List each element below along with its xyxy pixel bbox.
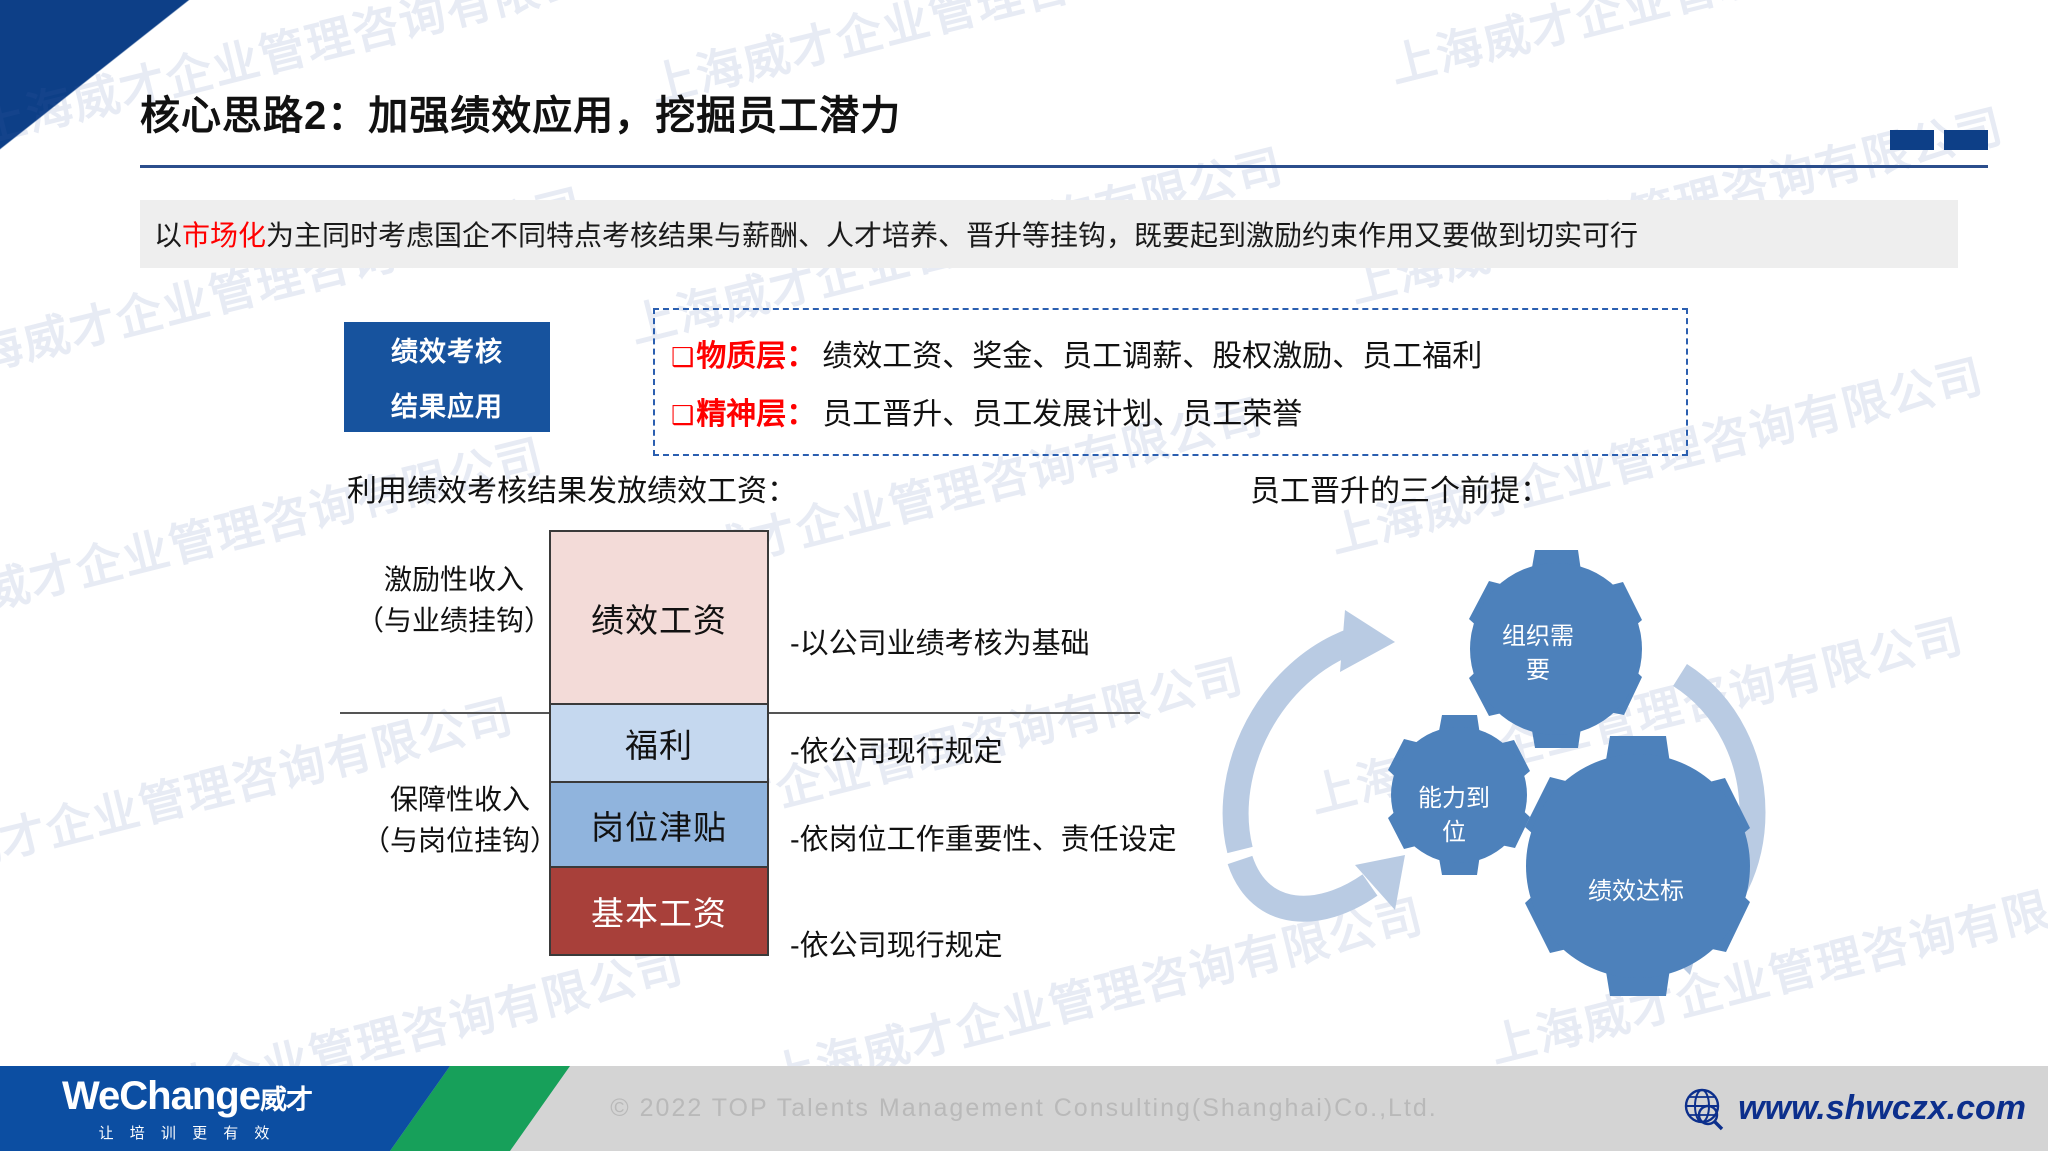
arrow-left-up [1236,640,1355,850]
subtitle-highlight: 市场化 [182,220,266,251]
mark-bar-1 [1890,130,1934,150]
arrow-head-up [1340,610,1395,672]
subtitle-band: 以市场化为主同时考虑国企不同特点考核结果与薪酬、人才培养、晋升等挂钩，既要起到激… [140,200,1958,268]
logo-tagline: 让 培 训 更 有 效 [62,1122,312,1143]
income-label-incentive-line1: 激励性收入 [356,560,552,601]
subtitle-text: 以市场化为主同时考虑国企不同特点考核结果与薪酬、人才培养、晋升等挂钩，既要起到激… [140,214,1638,254]
income-label-guarantee-line2: （与岗位挂钩） [362,821,558,862]
layer-text-spiritual: 员工晋升、员工发展计划、员工荣誉 [822,389,1302,433]
gear-label-org-line1: 组织需 [1502,620,1574,654]
stack-cell-base-salary: 基本工资 [549,868,769,956]
application-layers-box: ❑ 物质层： 绩效工资、奖金、员工调薪、股权激励、员工福利 ❑ 精神层： 员工晋… [653,308,1688,456]
gears-svg [1180,520,1820,1040]
stack-cell-performance-pay: 绩效工资 [549,530,769,705]
website-text: www.shwczx.com [1738,1089,2026,1128]
stack-cell-post-allowance: 岗位津贴 [549,783,769,868]
income-label-guarantee: 保障性收入 （与岗位挂钩） [362,780,558,861]
arrow-bottom-curve [1240,860,1370,909]
slide-root: 上海威才企业管理咨询有限公司 上海威才企业管理咨询有限公司 上海威才企业管理咨询… [0,0,2048,1151]
square-bullet-icon: ❑ [671,344,694,370]
gear-label-cap-line1: 能力到 [1418,782,1490,816]
left-section-heading: 利用绩效考核结果发放绩效工资： [347,466,797,510]
stack-desc-benefits: -依公司现行规定 [790,728,1003,770]
income-label-guarantee-line1: 保障性收入 [362,780,558,821]
stack-desc-post-allowance: -依岗位工作重要性、责任设定 [790,816,1177,858]
gear-label-capability: 能力到 位 [1418,782,1490,849]
income-label-incentive-line2: （与业绩挂钩） [356,601,552,642]
watermark-text: 上海威才企业管理咨询有限公司 [1382,0,2048,96]
income-label-incentive: 激励性收入 （与业绩挂钩） [356,560,552,641]
mark-bar-2 [1944,130,1988,150]
gear-label-cap-line2: 位 [1418,816,1490,850]
layer-text-material: 绩效工资、奖金、员工调薪、股权激励、员工福利 [822,331,1482,375]
blue-box-line-2: 结果应用 [391,385,503,424]
layer-item-spiritual: ❑ 精神层： 员工晋升、员工发展计划、员工荣誉 [671,389,1686,433]
website-link[interactable]: www.shwczx.com [1680,1085,2026,1131]
performance-result-label-box: 绩效考核 结果应用 [344,322,550,432]
layer-label-spiritual: 精神层： [696,389,816,433]
layer-label-material: 物质层： [696,331,816,375]
subtitle-prefix: 以 [154,220,182,251]
gear-label-perf-line1: 绩效达标 [1588,875,1684,909]
subtitle-rest: 为主同时考虑国企不同特点考核结果与薪酬、人才培养、晋升等挂钩，既要起到激励约束作… [266,220,1638,251]
layer-item-material: ❑ 物质层： 绩效工资、奖金、员工调薪、股权激励、员工福利 [671,331,1686,375]
promotion-gears-diagram: 组织需 要 能力到 位 绩效达标 [1180,520,1820,1040]
page-title-text: 核心思路2：加强绩效应用，挖掘员工潜力 [140,85,1988,147]
salary-structure-stack: 绩效工资 福利 岗位津贴 基本工资 [549,530,769,956]
globe-icon [1680,1085,1726,1131]
stack-desc-performance-pay: -以公司业绩考核为基础 [790,620,1090,662]
square-bullet-icon: ❑ [671,402,694,428]
gear-label-performance: 绩效达标 [1588,875,1684,909]
blue-box-line-1: 绩效考核 [391,330,503,369]
page-title: 核心思路2：加强绩效应用，挖掘员工潜力 [140,85,1988,147]
stack-desc-base-salary: -依公司现行规定 [790,922,1003,964]
top-right-marks [1890,130,1988,150]
stack-cell-benefits: 福利 [549,705,769,783]
gear-performance-standard [1525,736,1750,996]
footer-bar: WeChange威才 让 培 训 更 有 效 © 2022 TOP Talent… [0,1066,2048,1151]
right-section-heading: 员工晋升的三个前提： [1250,466,1550,510]
gear-label-org-line2: 要 [1502,654,1574,688]
title-underline [140,165,1988,168]
gear-label-organization-need: 组织需 要 [1502,620,1574,687]
